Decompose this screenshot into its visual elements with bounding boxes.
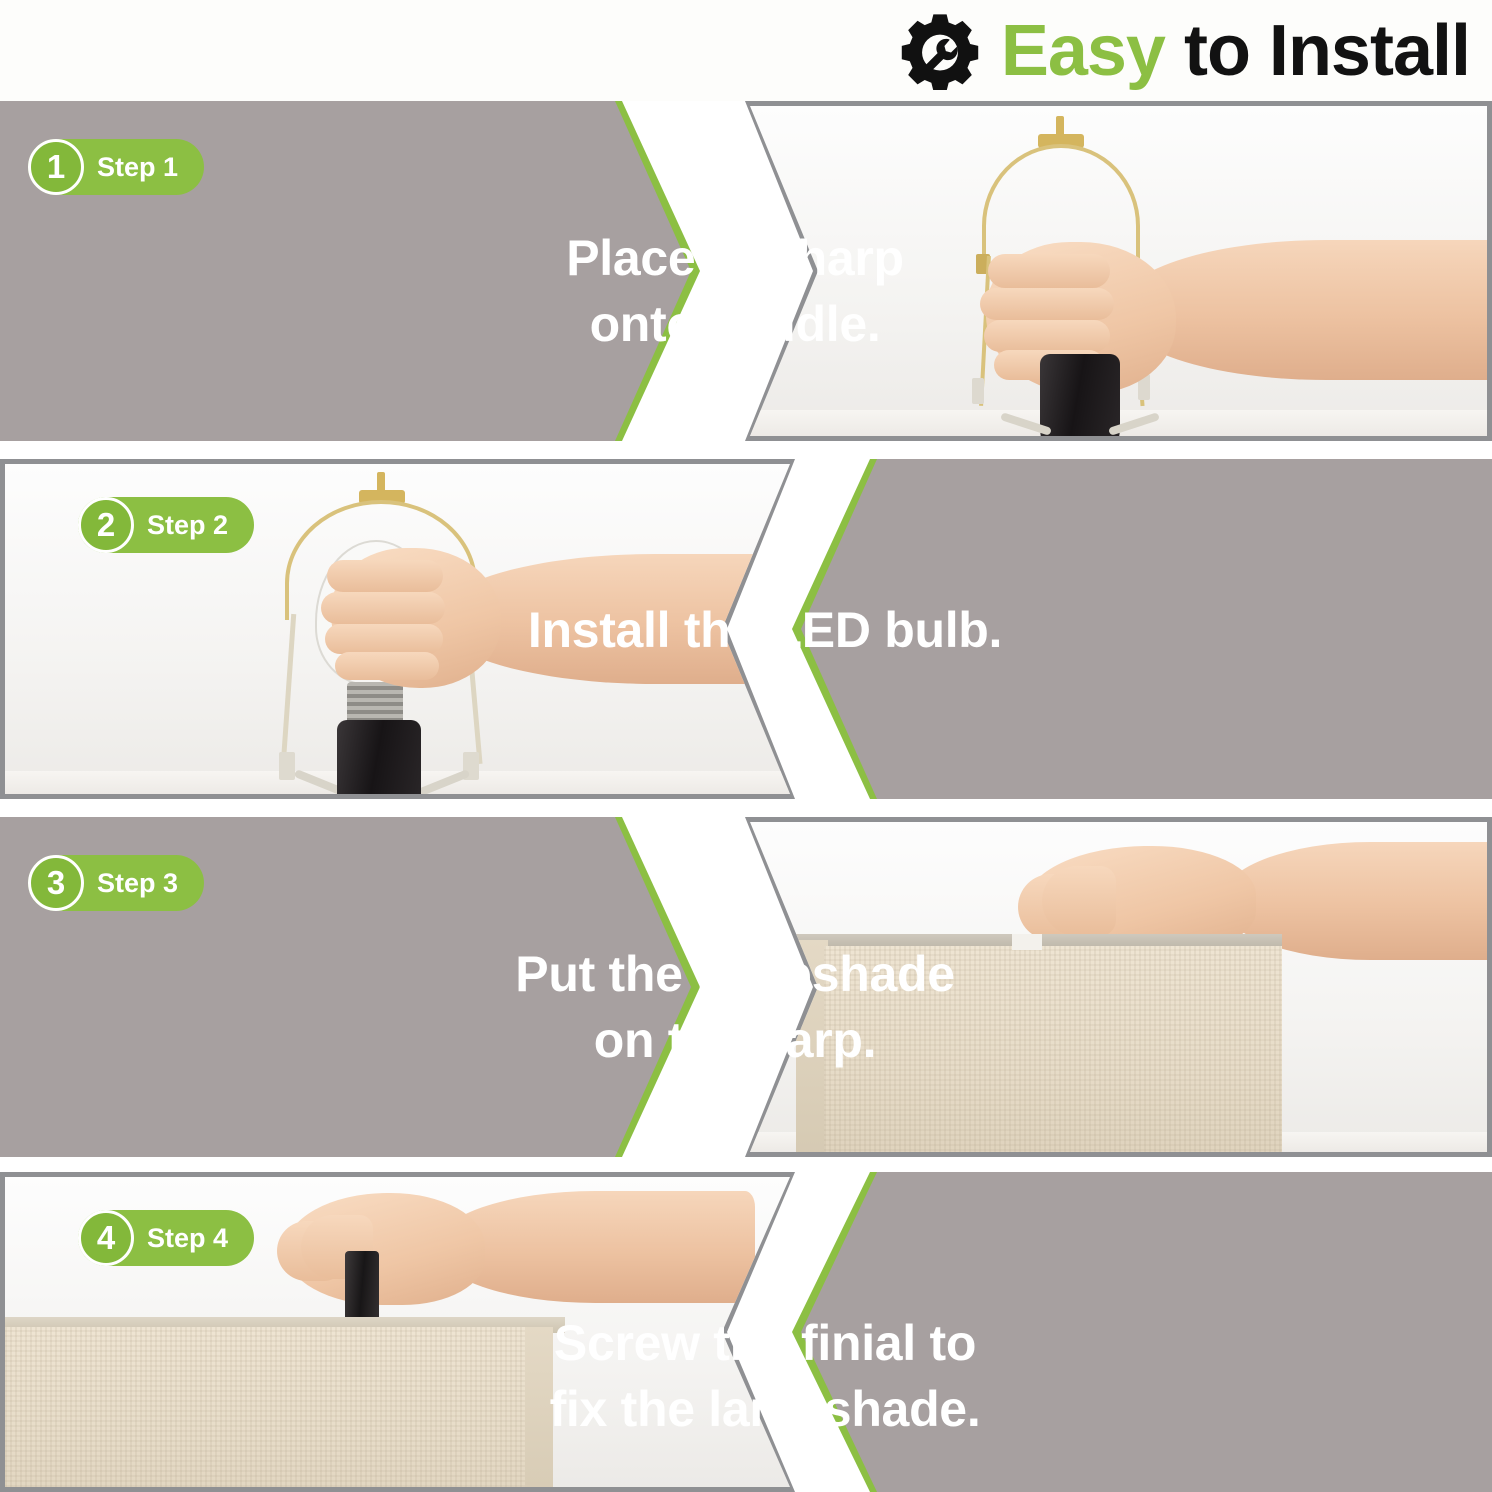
page-title-accent: Easy bbox=[1001, 11, 1165, 91]
step-label-1: Step 1 bbox=[97, 152, 178, 183]
step-row-2: 2 Step 2 Install the LED bulb. bbox=[0, 459, 1492, 799]
step-caption-1-line1: Place the harp bbox=[46, 225, 1424, 291]
step-badge-4: 4 Step 4 bbox=[78, 1210, 254, 1266]
step-caption-1-line2: onto saddle. bbox=[46, 291, 1424, 357]
step-caption-1: Place the harp onto saddle. bbox=[28, 225, 1442, 357]
step-caption-3: Put the lampshade on the harp. bbox=[28, 941, 1442, 1073]
step-4-content: 4 Step 4 Screw the finial to fix the lam… bbox=[0, 1172, 1492, 1492]
step-label-3: Step 3 bbox=[97, 868, 178, 899]
step-row-1: 1 Step 1 Place the harp onto saddle. bbox=[0, 101, 1492, 441]
step-number-2: 2 bbox=[78, 497, 134, 553]
step-label-2: Step 2 bbox=[147, 510, 228, 541]
step-caption-4-line2: fix the lampshade. bbox=[96, 1376, 1434, 1442]
step-2-content: 2 Step 2 Install the LED bulb. bbox=[0, 459, 1492, 799]
step-number-4: 4 bbox=[78, 1210, 134, 1266]
step-caption-3-line1: Put the lampshade bbox=[46, 941, 1424, 1007]
step-3-content: 3 Step 3 Put the lampshade on the harp. bbox=[0, 817, 1492, 1157]
gear-wrench-icon bbox=[901, 12, 979, 90]
step-number-1: 1 bbox=[28, 139, 84, 195]
step-row-4: 4 Step 4 Screw the finial to fix the lam… bbox=[0, 1172, 1492, 1492]
step-caption-4-line1: Screw the finial to bbox=[96, 1310, 1434, 1376]
step-caption-3-line2: on the harp. bbox=[46, 1007, 1424, 1073]
step-badge-2: 2 Step 2 bbox=[78, 497, 254, 553]
page-header: Easy to Install bbox=[0, 0, 1492, 101]
step-badge-3: 3 Step 3 bbox=[28, 855, 204, 911]
step-number-3: 3 bbox=[28, 855, 84, 911]
step-label-4: Step 4 bbox=[147, 1223, 228, 1254]
step-1-content: 1 Step 1 Place the harp onto saddle. bbox=[0, 101, 1492, 441]
step-caption-2-line1: Install the LED bulb. bbox=[96, 597, 1434, 663]
page-title-rest: to Install bbox=[1165, 11, 1470, 91]
page-title: Easy to Install bbox=[1001, 15, 1470, 87]
step-caption-2: Install the LED bulb. bbox=[78, 597, 1452, 663]
step-badge-1: 1 Step 1 bbox=[28, 139, 204, 195]
step-caption-4: Screw the finial to fix the lampshade. bbox=[78, 1310, 1452, 1442]
step-row-3: 3 Step 3 Put the lampshade on the harp. bbox=[0, 817, 1492, 1157]
